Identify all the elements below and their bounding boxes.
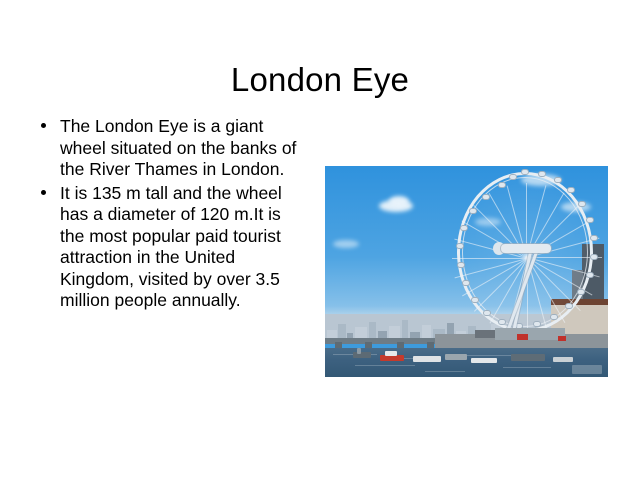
london-eye-photo xyxy=(325,166,608,377)
wheel-base xyxy=(495,328,565,340)
list-item: It is 135 m tall and the wheel has a dia… xyxy=(36,183,304,312)
presentation-slide: London Eye The London Eye is a giant whe… xyxy=(0,0,640,480)
cloud-shape xyxy=(389,196,409,207)
photo-watermark xyxy=(572,365,602,374)
bullet-list: The London Eye is a giant wheel situated… xyxy=(36,116,304,314)
photo-canvas xyxy=(325,166,608,377)
list-item-text: It is 135 m tall and the wheel has a dia… xyxy=(60,183,282,311)
page-title: London Eye xyxy=(0,60,640,100)
list-item: The London Eye is a giant wheel situated… xyxy=(36,116,304,181)
ferris-wheel xyxy=(443,168,608,348)
list-item-text: The London Eye is a giant wheel situated… xyxy=(60,116,296,179)
bullet-point-icon xyxy=(41,123,46,128)
bullet-point-icon xyxy=(41,190,46,195)
wheel-spindle xyxy=(501,244,551,253)
cloud-shape xyxy=(333,240,359,248)
